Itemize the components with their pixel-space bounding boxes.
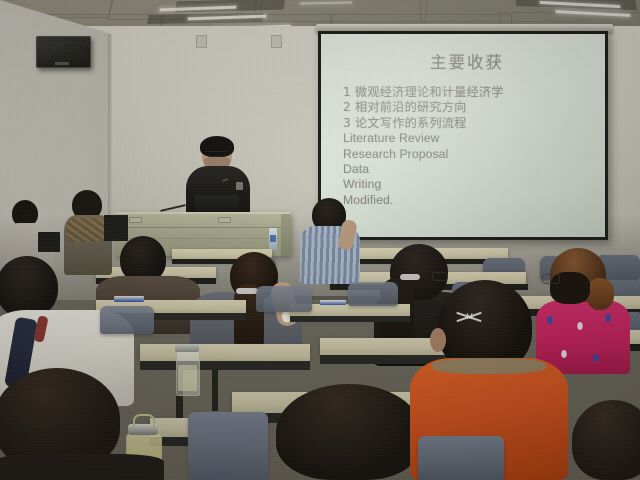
desk-edge — [140, 361, 310, 370]
slide-line-3: 3 论文写作的系列流程 — [343, 116, 591, 131]
hair-tie — [236, 288, 258, 294]
slide-line-1: 1 微观经济理论和计量经济学 — [343, 85, 591, 100]
glass-contents — [178, 365, 197, 391]
slide-line-6: Data — [343, 162, 591, 177]
attendee-ear — [430, 328, 446, 352]
attendee-head — [276, 384, 422, 480]
notebook-on-desk — [320, 300, 346, 305]
water-bottle-on-podium — [269, 228, 277, 250]
lectern-handle — [129, 217, 142, 223]
speaker-brand-plate — [55, 62, 69, 65]
drinking-glass-with-lid — [176, 348, 200, 396]
classroom-chair — [100, 306, 154, 334]
speaker-bracket — [82, 40, 90, 46]
desk-edge — [290, 316, 410, 322]
wall-outlet — [271, 35, 282, 48]
glass-lid — [175, 344, 199, 352]
slide-line-8: Modified. — [343, 193, 591, 208]
slide-title: 主要收获 — [343, 49, 591, 73]
lecture-hall-photo: 主要收获 1 微观经济理论和计量经济学 2 相对前沿的研究方向 3 论文写作的系… — [0, 0, 640, 480]
slide-line-4: Literature Review — [343, 131, 591, 146]
lectern-handle — [218, 217, 231, 223]
classroom-chair — [188, 412, 268, 480]
wall-outlet — [196, 35, 207, 48]
classroom-chair — [348, 282, 398, 306]
student-desk — [140, 344, 310, 362]
attendee-torso — [0, 454, 164, 480]
classroom-chair — [256, 286, 312, 312]
classroom-chair — [418, 436, 504, 480]
slide-line-2: 2 相对前沿的研究方向 — [343, 100, 591, 115]
logo-letter: M — [466, 312, 473, 321]
shirt-logo-icon: M — [456, 310, 482, 324]
attendee-front-row-dark-hair — [0, 368, 164, 480]
desk-leg — [212, 369, 218, 411]
attendee-bottom-right — [572, 400, 640, 480]
shirt-logo-icon — [236, 182, 243, 190]
slide-line-5: Research Proposal — [343, 147, 591, 162]
attendee-head — [572, 400, 640, 480]
slide-line-7: Writing — [343, 177, 591, 192]
attendee-head — [0, 256, 58, 318]
lectern-side-panel — [281, 214, 291, 256]
attendee-bottom-left — [276, 384, 426, 480]
ponytail — [586, 278, 614, 310]
projection-screen: 主要收获 1 微观经济理论和计量经济学 2 相对前沿的研究方向 3 论文写作的系… — [318, 31, 608, 240]
slide-surface: 主要收获 1 微观经济理论和计量经济学 2 相对前沿的研究方向 3 论文写作的系… — [321, 34, 605, 237]
laptop-screen — [38, 232, 60, 252]
collar — [432, 358, 546, 374]
